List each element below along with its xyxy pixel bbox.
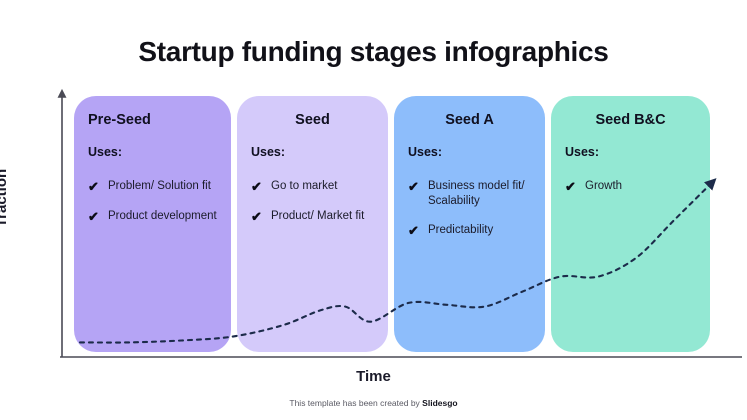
uses-label: Uses: (251, 145, 374, 159)
stage-title: Seed A (408, 112, 531, 128)
footer-text: This template has been created by (289, 398, 422, 408)
list-item: ✔ Predictability (408, 223, 531, 240)
bullet-text: Predictability (428, 223, 493, 238)
list-item: ✔ Problem/ Solution fit (88, 179, 217, 196)
footer-brand: Slidesgo (422, 398, 457, 408)
bullet-text: Problem/ Solution fit (108, 179, 211, 194)
stage-bullet-list: ✔ Problem/ Solution fit ✔ Product develo… (88, 179, 217, 226)
list-item: ✔ Product/ Market fit (251, 209, 374, 226)
bullet-text: Product/ Market fit (271, 209, 364, 224)
list-item: ✔ Go to market (251, 179, 374, 196)
check-icon: ✔ (408, 223, 428, 240)
check-icon: ✔ (408, 179, 428, 196)
uses-label: Uses: (408, 145, 531, 159)
stage-bullet-list: ✔ Business model fit/ Scalability ✔ Pred… (408, 179, 531, 239)
check-icon: ✔ (88, 209, 108, 226)
list-item: ✔ Product development (88, 209, 217, 226)
bullet-text: Product development (108, 209, 217, 224)
stage-title: Seed B&C (565, 112, 696, 128)
bullet-text: Growth (585, 179, 622, 194)
uses-label: Uses: (88, 145, 217, 159)
infographic-root: Startup funding stages infographics Trac… (0, 0, 747, 420)
stage-bullet-list: ✔ Growth (565, 179, 696, 196)
y-axis-label: Traction (0, 138, 10, 258)
list-item: ✔ Business model fit/ Scalability (408, 179, 531, 210)
check-icon: ✔ (251, 209, 271, 226)
x-axis-label: Time (0, 368, 747, 385)
stage-bullet-list: ✔ Go to market ✔ Product/ Market fit (251, 179, 374, 226)
stage-card-seed-bc[interactable]: Seed B&C Uses: ✔ Growth (551, 96, 710, 352)
stage-card-seed[interactable]: Seed Uses: ✔ Go to market ✔ Product/ Mar… (237, 96, 388, 352)
check-icon: ✔ (88, 179, 108, 196)
stage-card-pre-seed[interactable]: Pre-Seed Uses: ✔ Problem/ Solution fit ✔… (74, 96, 231, 352)
check-icon: ✔ (565, 179, 585, 196)
bullet-text: Business model fit/ Scalability (428, 179, 531, 210)
check-icon: ✔ (251, 179, 271, 196)
list-item: ✔ Growth (565, 179, 696, 196)
stage-title: Pre-Seed (88, 112, 217, 128)
stage-title: Seed (251, 112, 374, 128)
bullet-text: Go to market (271, 179, 337, 194)
stage-card-seed-a[interactable]: Seed A Uses: ✔ Business model fit/ Scala… (394, 96, 545, 352)
footer-credit: This template has been created by Slides… (0, 398, 747, 408)
uses-label: Uses: (565, 145, 696, 159)
